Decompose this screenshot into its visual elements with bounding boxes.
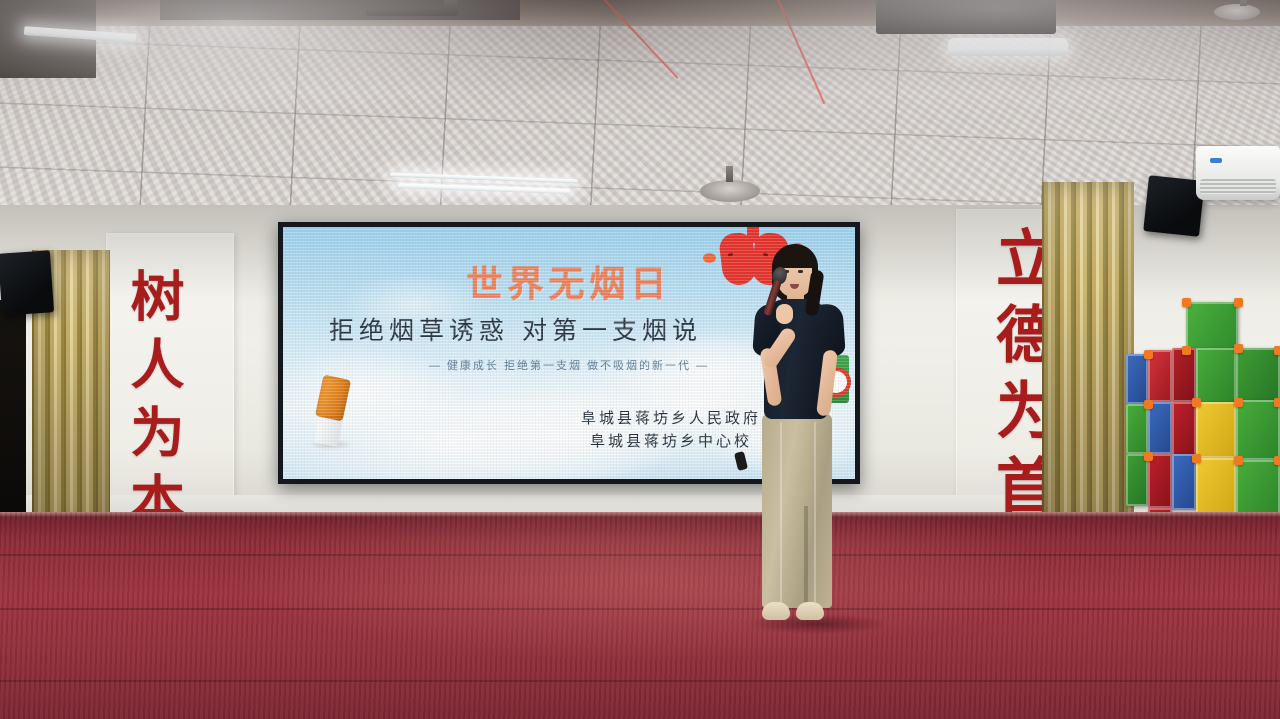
person-sleeve-right <box>816 303 846 357</box>
cube-green-f <box>1126 454 1148 506</box>
air-conditioner <box>1196 146 1280 200</box>
speaker-person <box>742 244 850 644</box>
person-shoe-right <box>796 602 824 620</box>
cube-connector-13 <box>1144 452 1153 461</box>
side-doorway <box>0 300 26 532</box>
cigarette-filter <box>315 375 351 422</box>
stage-curtain-right <box>1042 182 1134 534</box>
trouser-inseam <box>804 506 808 608</box>
cube-connector-14 <box>1274 456 1280 465</box>
ac-display-icon <box>1210 158 1222 163</box>
cube-green-top <box>1186 302 1238 350</box>
cube-green-d <box>1126 404 1148 454</box>
cube-blue-a <box>1126 354 1148 404</box>
cube-connector-1 <box>1182 298 1191 307</box>
cube-connector-10 <box>1274 398 1280 407</box>
cube-connector-11 <box>1192 454 1201 463</box>
person-hair-top <box>774 246 816 268</box>
cube-green-b <box>1196 348 1236 404</box>
cube-connector-8 <box>1234 398 1243 407</box>
trouser-crease-right <box>814 422 816 602</box>
cube-red-b <box>1172 402 1196 456</box>
stage-floor <box>0 512 1280 719</box>
trouser-crease-left <box>780 422 782 602</box>
cube-connector-4 <box>1234 344 1243 353</box>
organization-line-2: 阜城县蒋坊乡中心校 <box>581 430 761 453</box>
person-shoe-left <box>762 602 790 620</box>
cube-connector-3 <box>1182 346 1191 355</box>
person-trousers <box>762 414 832 608</box>
cube-connector-5 <box>1144 350 1153 359</box>
left-wall-speaker <box>0 250 54 315</box>
person-eye-right <box>798 270 803 273</box>
cube-connector-2 <box>1234 298 1243 307</box>
cube-yellow-b <box>1196 458 1236 516</box>
wall-calligraphy-left: 树人为本 <box>126 268 180 540</box>
cube-connector-7 <box>1192 398 1201 407</box>
cube-green-e <box>1236 400 1280 460</box>
slide-organizations: 阜城县蒋坊乡人民政府 阜城县蒋坊乡中心校 <box>581 407 761 454</box>
crushed-cigarette-icon <box>313 377 355 455</box>
cube-connector-6 <box>1274 346 1280 355</box>
cube-connector-12 <box>1234 456 1243 465</box>
cube-green-c <box>1236 348 1280 406</box>
organization-line-1: 阜城县蒋坊乡人民政府 <box>581 407 761 430</box>
ac-vent-louvers <box>1200 179 1276 194</box>
stage-photo-scene: 树人为本 立德为首 <box>0 0 1280 719</box>
cube-blue-b <box>1148 402 1172 454</box>
person-hand-holding-mic <box>776 304 793 324</box>
cube-connector-9 <box>1144 400 1153 409</box>
floor-light-glow <box>0 512 1280 719</box>
cube-yellow-a <box>1196 402 1236 458</box>
cube-red-c <box>1148 454 1172 508</box>
cube-darkred-a <box>1172 348 1196 402</box>
